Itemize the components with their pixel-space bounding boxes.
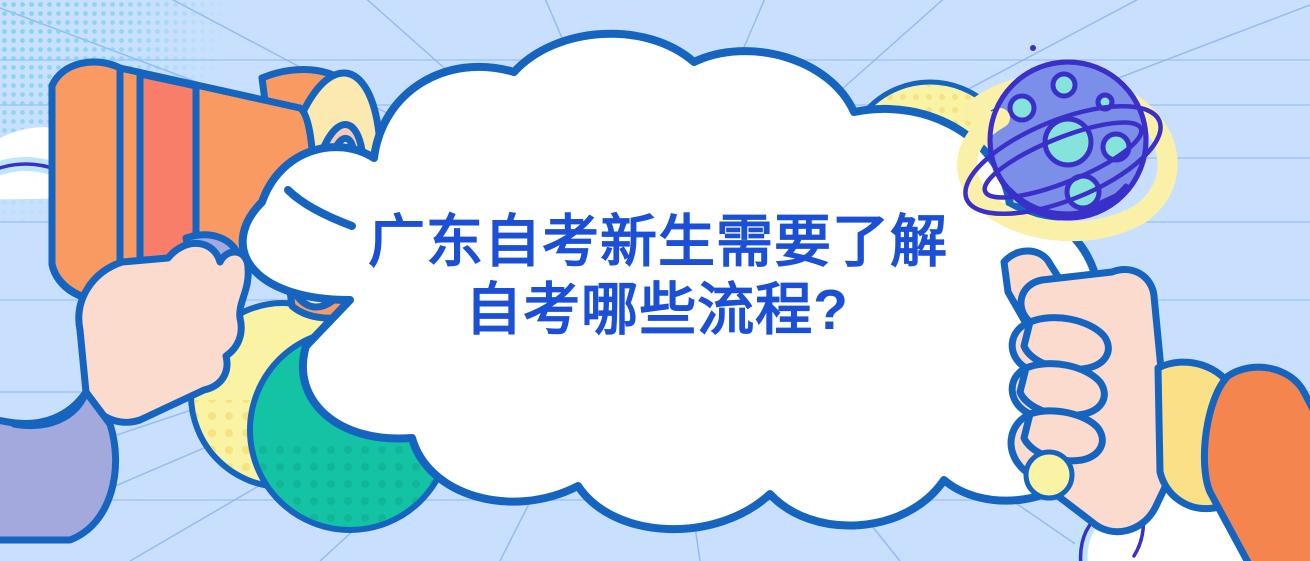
promo-banner: 广东自考新生需要了解 自考哪些流程? [0,0,1310,561]
yellow-circle-right [1026,452,1072,498]
foreground-dots-layer [0,0,1310,561]
